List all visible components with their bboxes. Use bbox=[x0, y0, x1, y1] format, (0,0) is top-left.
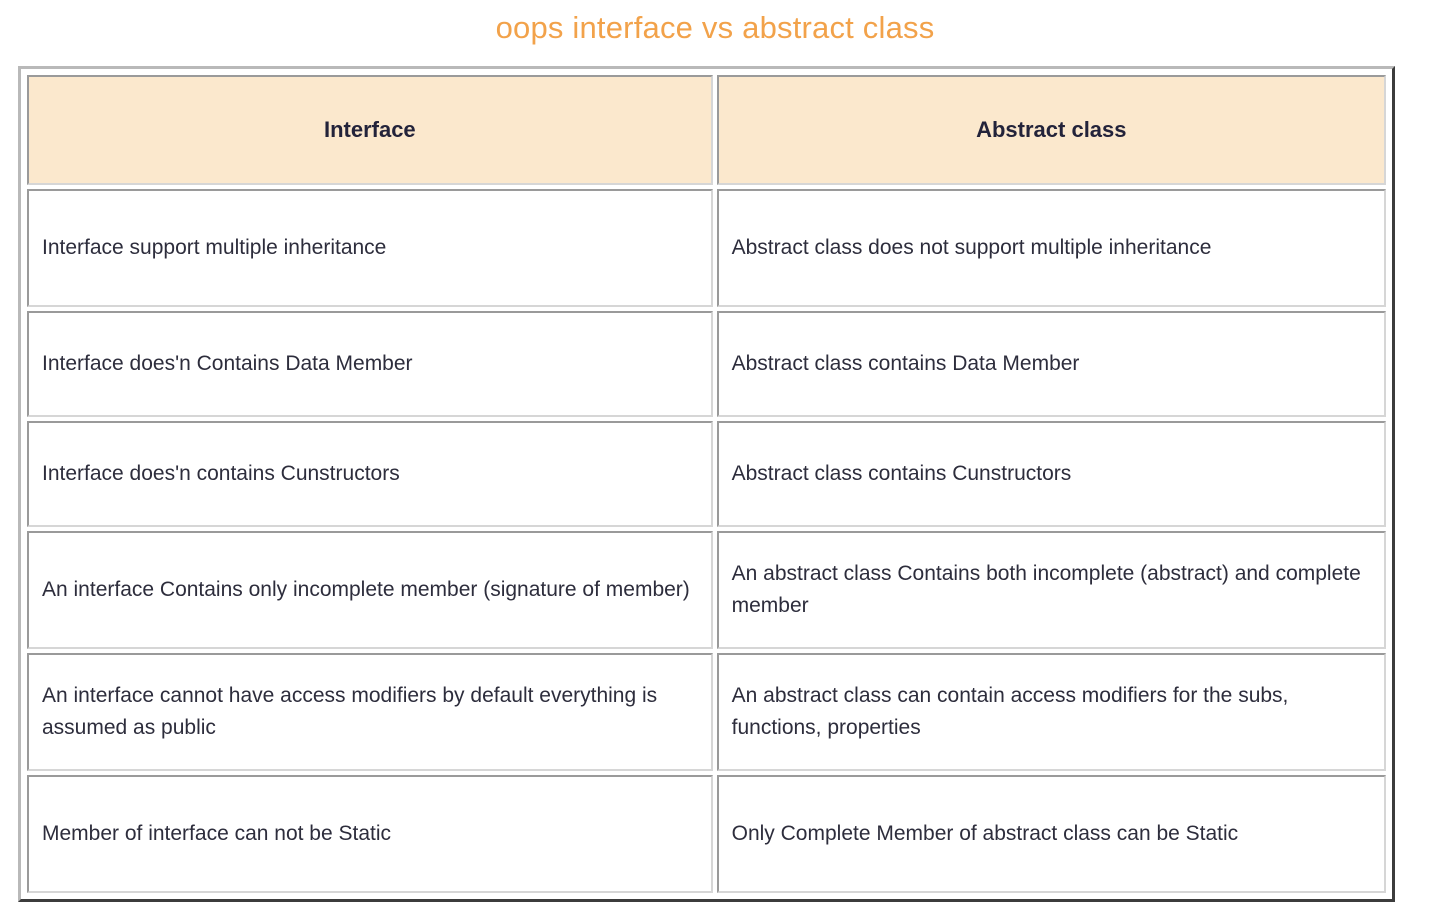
table-row: Interface support multiple inheritance A… bbox=[27, 189, 1386, 307]
cell-interface: Interface support multiple inheritance bbox=[27, 189, 713, 307]
cell-interface: An interface cannot have access modifier… bbox=[27, 653, 713, 771]
table-header: Interface Abstract class bbox=[27, 75, 1386, 185]
table-header-row: Interface Abstract class bbox=[27, 75, 1386, 185]
comparison-table: Interface Abstract class Interface suppo… bbox=[23, 71, 1390, 897]
cell-text: An interface Contains only incomplete me… bbox=[42, 574, 697, 606]
cell-interface: Interface does'n Contains Data Member bbox=[27, 311, 713, 417]
cell-text: Abstract class does not support multiple… bbox=[732, 232, 1370, 264]
cell-interface: An interface Contains only incomplete me… bbox=[27, 531, 713, 649]
cell-abstract: Abstract class does not support multiple… bbox=[717, 189, 1386, 307]
page-root: oops interface vs abstract class Interfa… bbox=[0, 0, 1430, 830]
table-row: Interface does'n Contains Data Member Ab… bbox=[27, 311, 1386, 417]
cell-abstract: An abstract class can contain access mod… bbox=[717, 653, 1386, 771]
comparison-table-frame: Interface Abstract class Interface suppo… bbox=[18, 66, 1395, 902]
cell-interface: Member of interface can not be Static bbox=[27, 775, 713, 893]
table-row: Member of interface can not be Static On… bbox=[27, 775, 1386, 893]
cell-text: Abstract class contains Data Member bbox=[732, 348, 1370, 380]
cell-text: An abstract class can contain access mod… bbox=[732, 680, 1370, 744]
cell-abstract: Abstract class contains Data Member bbox=[717, 311, 1386, 417]
cell-text: An abstract class Contains both incomple… bbox=[732, 558, 1370, 622]
cell-text: Member of interface can not be Static bbox=[42, 818, 697, 850]
cell-interface: Interface does'n contains Cunstructors bbox=[27, 421, 713, 527]
cell-abstract: Abstract class contains Cunstructors bbox=[717, 421, 1386, 527]
cell-abstract: An abstract class Contains both incomple… bbox=[717, 531, 1386, 649]
cell-text: Only Complete Member of abstract class c… bbox=[732, 818, 1370, 850]
cell-text: Abstract class contains Cunstructors bbox=[732, 458, 1370, 490]
column-header-abstract-class: Abstract class bbox=[717, 75, 1386, 185]
table-row: Interface does'n contains Cunstructors A… bbox=[27, 421, 1386, 527]
table-row: An interface cannot have access modifier… bbox=[27, 653, 1386, 771]
column-header-interface: Interface bbox=[27, 75, 713, 185]
cell-text: An interface cannot have access modifier… bbox=[42, 680, 697, 744]
cell-text: Interface does'n contains Cunstructors bbox=[42, 458, 697, 490]
page-title: oops interface vs abstract class bbox=[0, 0, 1430, 54]
cell-text: Interface does'n Contains Data Member bbox=[42, 348, 697, 380]
cell-abstract: Only Complete Member of abstract class c… bbox=[717, 775, 1386, 893]
table-row: An interface Contains only incomplete me… bbox=[27, 531, 1386, 649]
cell-text: Interface support multiple inheritance bbox=[42, 232, 697, 264]
table-body: Interface support multiple inheritance A… bbox=[27, 189, 1386, 893]
